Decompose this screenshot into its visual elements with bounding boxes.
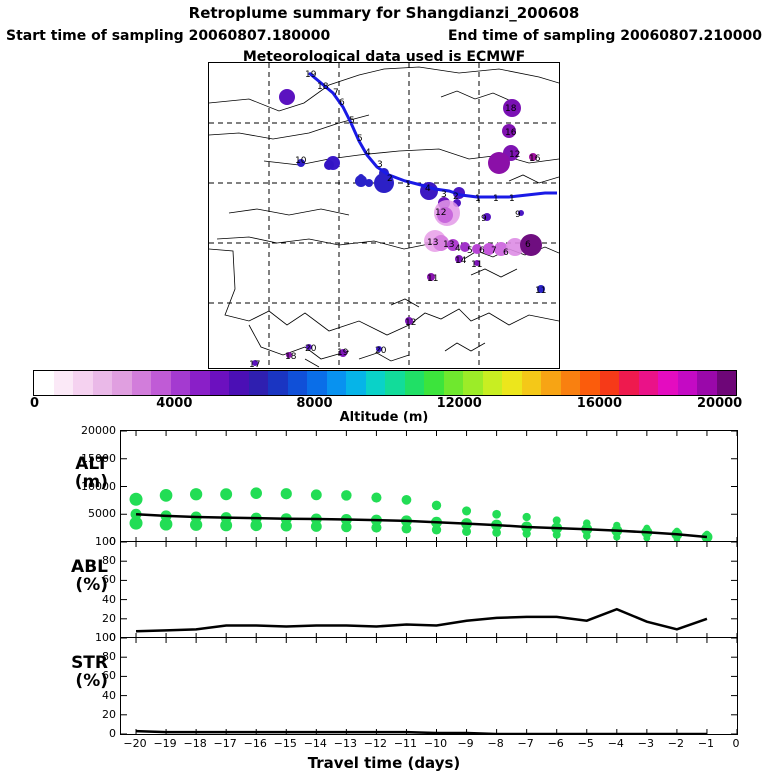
y-tick-label: 60 <box>60 573 116 586</box>
colorbar-swatch <box>678 371 698 395</box>
svg-text:13: 13 <box>427 238 438 248</box>
svg-text:12: 12 <box>405 318 416 328</box>
colorbar-swatch <box>697 371 717 395</box>
svg-text:11: 11 <box>471 260 482 270</box>
colorbar-swatch <box>600 371 620 395</box>
colorbar-swatch <box>424 371 444 395</box>
svg-text:3: 3 <box>441 190 447 200</box>
y-tick-label: 5000 <box>60 507 116 520</box>
colorbar-swatch <box>619 371 639 395</box>
x-tick-label: 0 <box>716 737 756 750</box>
colorbar-swatch <box>151 371 171 395</box>
y-tick-label: 15000 <box>60 452 116 465</box>
colorbar-swatch <box>522 371 542 395</box>
y-tick-label: 60 <box>60 669 116 682</box>
abl-plot-svg <box>121 542 737 638</box>
svg-text:5: 5 <box>357 134 363 144</box>
y-tick-label: 100 <box>60 631 116 644</box>
trajectory-line <box>309 73 557 197</box>
end-time-label: End time of sampling 20060807.210000 <box>448 28 762 44</box>
colorbar-swatch <box>346 371 366 395</box>
svg-text:19: 19 <box>337 348 349 358</box>
svg-text:11: 11 <box>535 286 546 296</box>
alt-plot-svg <box>121 431 737 542</box>
svg-text:5: 5 <box>467 246 473 256</box>
colorbar-swatch <box>268 371 288 395</box>
y-tick-label: 20 <box>60 612 116 625</box>
svg-text:14: 14 <box>455 256 467 266</box>
colorbar-swatch <box>639 371 659 395</box>
colorbar-swatch <box>405 371 425 395</box>
colorbar-swatch <box>171 371 191 395</box>
y-tick-label: 20 <box>60 708 116 721</box>
svg-text:2: 2 <box>387 174 393 184</box>
svg-text:16: 16 <box>529 154 541 164</box>
svg-text:6: 6 <box>339 98 345 108</box>
svg-text:1: 1 <box>475 194 481 204</box>
colorbar-swatch <box>229 371 249 395</box>
y-tick-label: 20000 <box>60 424 116 437</box>
y-tick-label: 0 <box>60 727 116 740</box>
colorbar-swatch <box>288 371 308 395</box>
svg-text:10: 10 <box>295 156 307 166</box>
svg-text:18: 18 <box>317 82 329 92</box>
svg-text:6: 6 <box>479 246 485 256</box>
map-point-labels: 19 18 7 6 5 5 4 3 2 1 4 3 2 1 1 1 10 18 … <box>249 70 546 368</box>
colorbar-tick: 8000 <box>296 396 332 411</box>
svg-text:19: 19 <box>305 70 317 80</box>
colorbar-tick: 20000 <box>697 396 742 411</box>
colorbar-swatch <box>327 371 347 395</box>
svg-text:12: 12 <box>435 208 446 218</box>
plume-dots <box>252 89 545 366</box>
svg-text:6: 6 <box>525 240 531 250</box>
svg-text:3: 3 <box>377 160 383 170</box>
colorbar-tick: 12000 <box>437 396 482 411</box>
svg-text:18: 18 <box>285 352 297 362</box>
str-plot-svg <box>121 638 737 734</box>
colorbar-label: Altitude (m) <box>0 410 768 425</box>
svg-text:13: 13 <box>443 240 454 250</box>
map-svg: 19 18 7 6 5 5 4 3 2 1 4 3 2 1 1 1 10 18 … <box>209 63 559 368</box>
colorbar-swatch <box>366 371 386 395</box>
colorbar-swatch <box>541 371 561 395</box>
colorbar-swatch <box>580 371 600 395</box>
y-tick-label: 40 <box>60 593 116 606</box>
colorbar-swatch <box>483 371 503 395</box>
colorbar-swatch <box>73 371 93 395</box>
svg-text:1: 1 <box>509 194 515 204</box>
y-tick-label: 80 <box>60 650 116 663</box>
svg-text:4: 4 <box>455 244 461 254</box>
colorbar-swatch <box>112 371 132 395</box>
svg-text:12: 12 <box>509 150 520 160</box>
start-time-label: Start time of sampling 20060807.180000 <box>6 28 330 44</box>
altitude-colorbar <box>33 370 737 396</box>
colorbar-swatch <box>132 371 152 395</box>
svg-text:18: 18 <box>505 104 517 114</box>
retroplume-map: 19 18 7 6 5 5 4 3 2 1 4 3 2 1 1 1 10 18 … <box>208 62 560 369</box>
str-plot <box>120 637 738 735</box>
svg-text:9: 9 <box>515 210 521 220</box>
colorbar-swatch <box>93 371 113 395</box>
colorbar-swatch <box>717 371 737 395</box>
abl-plot <box>120 541 738 639</box>
colorbar-swatch <box>502 371 522 395</box>
colorbar-swatch <box>210 371 230 395</box>
svg-text:20: 20 <box>305 344 317 354</box>
svg-text:2: 2 <box>453 192 459 202</box>
y-tick-label: 100 <box>60 535 116 548</box>
page-title: Retroplume summary for Shangdianzi_20060… <box>0 4 768 22</box>
svg-text:4: 4 <box>425 184 431 194</box>
y-tick-label: 80 <box>60 554 116 567</box>
x-axis-label: Travel time (days) <box>0 754 768 772</box>
timeseries-panels: ALT(m) ABL(%) STR(%) 2000015000100005000… <box>0 424 768 768</box>
colorbar-tick: 0 <box>30 396 39 411</box>
svg-text:4: 4 <box>365 148 371 158</box>
svg-text:1: 1 <box>405 180 411 190</box>
colorbar-swatch <box>444 371 464 395</box>
svg-text:1: 1 <box>493 194 499 204</box>
svg-text:17: 17 <box>249 360 260 368</box>
colorbar-swatch <box>561 371 581 395</box>
y-tick-label: 10000 <box>60 480 116 493</box>
svg-text:20: 20 <box>375 346 387 356</box>
svg-text:9: 9 <box>481 214 487 224</box>
svg-text:6: 6 <box>503 248 509 258</box>
svg-text:5: 5 <box>349 116 355 126</box>
colorbar-swatch <box>307 371 327 395</box>
colorbar-swatch <box>463 371 483 395</box>
colorbar-swatch <box>385 371 405 395</box>
svg-text:7: 7 <box>491 246 497 256</box>
colorbar-swatch <box>658 371 678 395</box>
colorbar-swatch <box>190 371 210 395</box>
colorbar-swatch <box>249 371 269 395</box>
svg-text:16: 16 <box>505 128 517 138</box>
colorbar-swatch <box>34 371 54 395</box>
alt-plot <box>120 430 738 543</box>
svg-text:7: 7 <box>333 88 339 98</box>
colorbar-swatch <box>54 371 74 395</box>
y-tick-label: 40 <box>60 689 116 702</box>
colorbar-tick: 4000 <box>156 396 192 411</box>
colorbar-tick: 16000 <box>577 396 622 411</box>
svg-text:11: 11 <box>427 274 438 284</box>
